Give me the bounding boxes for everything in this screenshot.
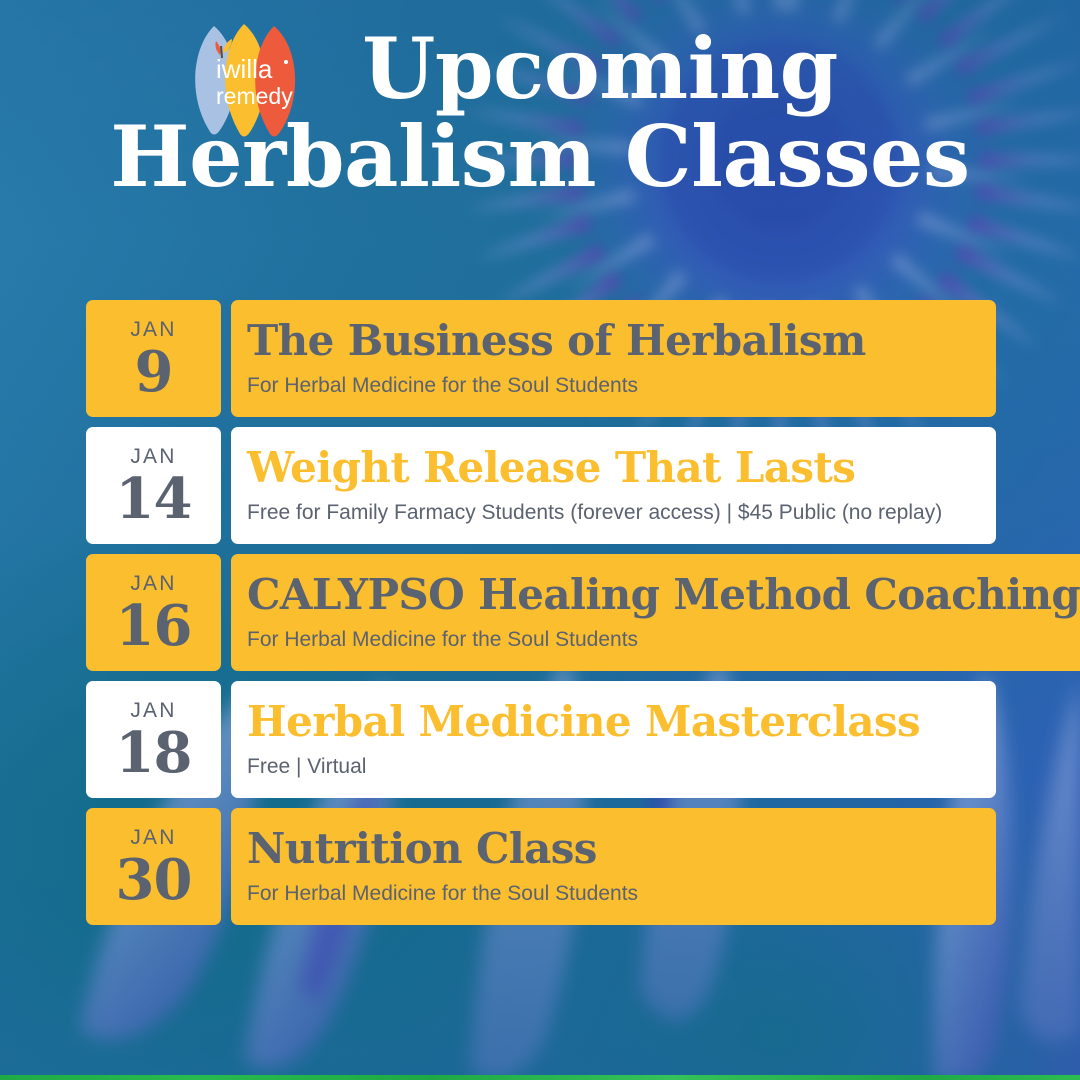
class-month: JAN [130,827,176,848]
class-subtitle: For Herbal Medicine for the Soul Student… [247,881,982,906]
class-title: Weight Release That Lasts [247,446,982,491]
class-day: 30 [116,852,192,909]
class-content-box[interactable]: CALYPSO Healing Method CoachingFor Herba… [231,554,1080,671]
class-content-box[interactable]: Nutrition ClassFor Herbal Medicine for t… [231,808,996,925]
class-day: 16 [116,598,192,655]
title-line-upcoming: Upcoming [0,28,1080,110]
class-subtitle: For Herbal Medicine for the Soul Student… [247,627,1080,652]
class-schedule-list: JAN9The Business of HerbalismFor Herbal … [86,300,996,925]
class-row[interactable]: JAN9The Business of HerbalismFor Herbal … [86,300,996,417]
class-month: JAN [130,700,176,721]
class-content-box[interactable]: The Business of HerbalismFor Herbal Medi… [231,300,996,417]
class-title: Nutrition Class [247,827,982,872]
class-day: 9 [135,344,173,401]
class-content-box[interactable]: Herbal Medicine MasterclassFree | Virtua… [231,681,996,798]
class-title: CALYPSO Healing Method Coaching [247,573,1080,618]
class-subtitle: Free | Virtual [247,754,982,779]
class-date-box: JAN16 [86,554,221,671]
bottom-green-strip [0,1075,1080,1080]
class-subtitle: Free for Family Farmacy Students (foreve… [247,500,982,525]
class-row[interactable]: JAN14Weight Release That LastsFree for F… [86,427,996,544]
class-date-box: JAN30 [86,808,221,925]
page-title: Upcoming Herbalism Classes [0,28,1080,199]
class-row[interactable]: JAN16CALYPSO Healing Method CoachingFor … [86,554,996,671]
class-row[interactable]: JAN18Herbal Medicine MasterclassFree | V… [86,681,996,798]
class-month: JAN [130,319,176,340]
class-row[interactable]: JAN30Nutrition ClassFor Herbal Medicine … [86,808,996,925]
class-day: 18 [116,725,192,782]
class-month: JAN [130,446,176,467]
class-month: JAN [130,573,176,594]
class-date-box: JAN14 [86,427,221,544]
class-date-box: JAN18 [86,681,221,798]
poster-canvas: iwilla remedy Upcoming Herbalism Classes… [0,0,1080,1080]
class-subtitle: For Herbal Medicine for the Soul Student… [247,373,982,398]
class-day: 14 [116,471,192,528]
class-content-box[interactable]: Weight Release That LastsFree for Family… [231,427,996,544]
title-line-herbalism-classes: Herbalism Classes [0,116,1080,198]
class-title: Herbal Medicine Masterclass [247,700,982,745]
class-title: The Business of Herbalism [247,319,982,364]
class-date-box: JAN9 [86,300,221,417]
